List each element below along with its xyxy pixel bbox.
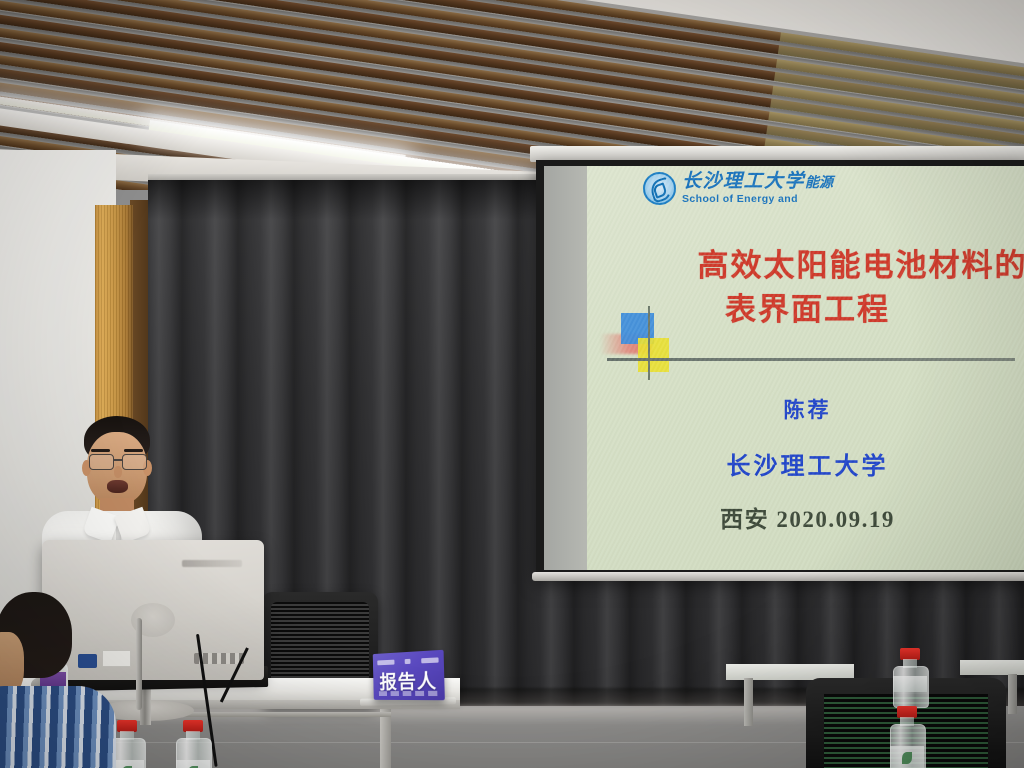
name-plate-role-label: 报告人 — [373, 666, 445, 695]
speaker-nose — [114, 466, 122, 478]
speaker-mouth — [107, 480, 128, 493]
university-logo: 长沙理工大学能源 School of Energy and — [643, 172, 833, 205]
speaker-eyebrow-left — [91, 449, 110, 452]
logo-english-name: School of Energy and — [682, 194, 833, 205]
speaker-eyebrow-right — [124, 449, 143, 452]
name-plate-footline — [379, 691, 439, 696]
monitor-brandmark — [182, 560, 242, 567]
decoration-horizontal-divider — [607, 358, 1015, 361]
university-seal-icon — [643, 172, 676, 205]
presentation-slide: 长沙理工大学能源 School of Energy and 高效太阳能电池材料的… — [587, 166, 1024, 570]
slide-affiliation: 长沙理工大学 — [587, 446, 1024, 481]
audience-shirt — [0, 686, 116, 768]
monitor-sticker-label — [102, 650, 131, 667]
logo-text: 长沙理工大学能源 School of Energy and — [682, 172, 833, 205]
desk-leg-right — [380, 708, 391, 768]
slide-title-line1: 高效太阳能电池材料的 — [697, 244, 1024, 288]
side-table-far — [960, 660, 1024, 675]
logo-chinese-name: 长沙理工大学能源 — [682, 172, 833, 191]
side-table-far-leg — [1008, 674, 1017, 714]
screen-unlit-margin — [544, 166, 587, 570]
projection-screen-bottom-bar — [532, 572, 1024, 581]
side-table-leg — [744, 678, 753, 726]
logo-chinese-main: 长沙理工大学 — [682, 171, 805, 192]
water-bottle-right — [890, 706, 924, 768]
slide-place-date: 西安 2020.09.19 — [587, 500, 1024, 534]
decoration-yellow-square — [638, 338, 669, 372]
slide-decoration — [600, 306, 780, 382]
logo-chinese-suffix: 能源 — [805, 176, 833, 191]
slide-presenter-name: 陈荐 — [587, 394, 1024, 424]
water-bottle-far — [893, 648, 927, 706]
audience-member — [0, 592, 100, 768]
name-plate: 报告人 — [373, 650, 445, 700]
decoration-vertical-line — [648, 306, 650, 380]
water-bottle-center — [176, 720, 210, 768]
microphone-stand — [136, 618, 142, 710]
presentation-scene: 长沙理工大学能源 School of Energy and 高效太阳能电池材料的… — [0, 0, 1024, 768]
name-plate-topline — [377, 656, 438, 665]
